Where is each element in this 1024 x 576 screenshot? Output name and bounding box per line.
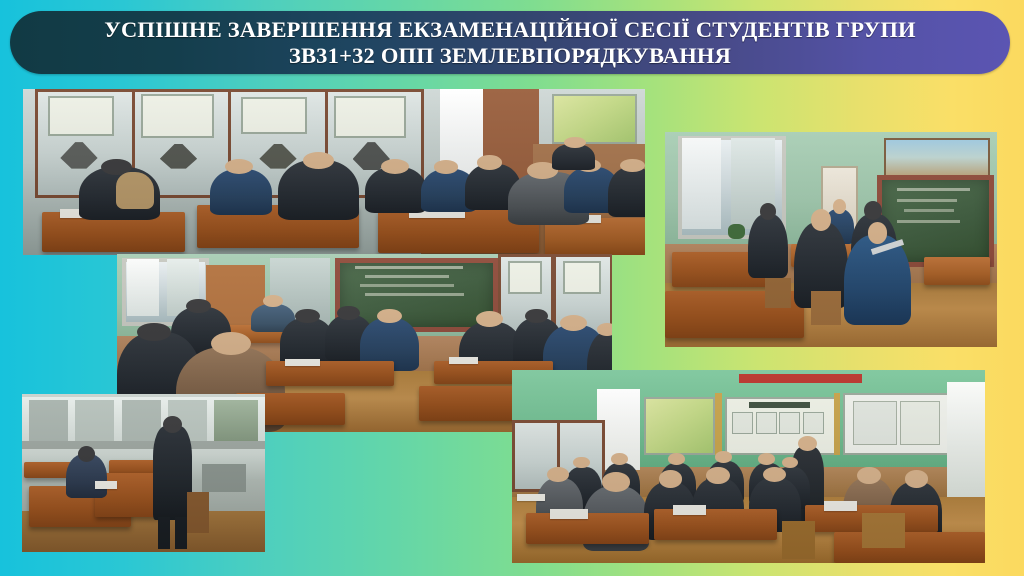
photo-bottom-right-scene (512, 370, 985, 563)
photo-bottom-right (512, 370, 985, 563)
photo-bottom-left-scene (22, 394, 265, 552)
page-title: УСПІШНЕ ЗАВЕРШЕННЯ ЕКЗАМЕНАЦІЙНОЇ СЕСІЇ … (86, 17, 933, 69)
photo-top-left-scene (23, 89, 645, 255)
photo-bottom-left (22, 394, 265, 552)
photo-top-left (23, 89, 645, 255)
title-bar: УСПІШНЕ ЗАВЕРШЕННЯ ЕКЗАМЕНАЦІЙНОЇ СЕСІЇ … (10, 11, 1010, 74)
wall-banner (739, 374, 862, 383)
photo-top-right (665, 132, 997, 347)
photo-top-right-scene (665, 132, 997, 347)
slide-canvas: УСПІШНЕ ЗАВЕРШЕННЯ ЕКЗАМЕНАЦІЙНОЇ СЕСІЇ … (0, 0, 1024, 576)
chart-heading (749, 402, 810, 408)
